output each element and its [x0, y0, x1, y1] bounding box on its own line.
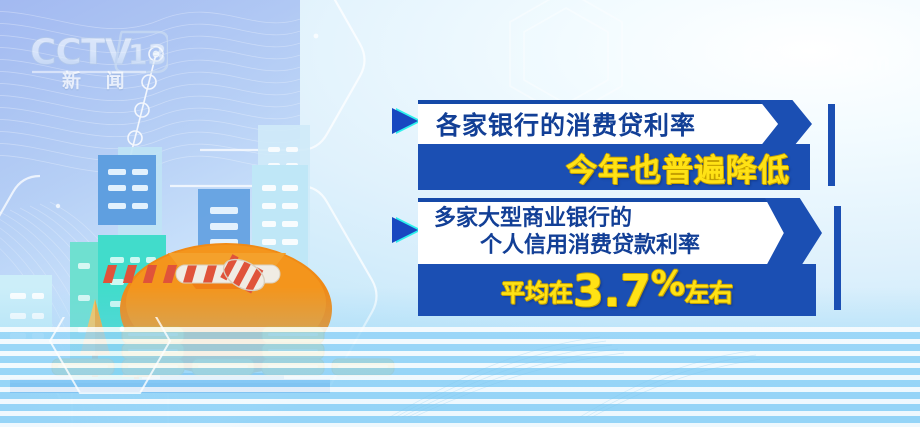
banner-1: 各家银行的消费贷利率 今年也普遍降低: [418, 100, 810, 190]
banner-2-chevron-tip: [765, 198, 822, 268]
cctv-com-watermark: CCTV .com: [744, 36, 914, 76]
banner-2-emphasis-value: 3.7: [573, 272, 651, 312]
banner-2-emphasis-prefix: 平均在: [501, 273, 573, 308]
banner-1-headline-band: 各家银行的消费贷利率: [418, 100, 778, 144]
banner-2-emphasis-suffix: 左右: [685, 273, 733, 308]
bottom-swirl-decoration: [380, 307, 760, 417]
banner-1-emphasis-band: 今年也普遍降低: [418, 144, 810, 190]
broadcast-frame: CCTV 13 新 闻 CCTV .com: [0, 0, 920, 427]
banner-2-emphasis-percent: %: [651, 264, 685, 304]
banner-1-side-accent: [828, 104, 835, 186]
banner-2-emphasis-band: 平均在3.7%左右: [418, 264, 816, 316]
svg-text:CCTV: CCTV: [744, 42, 823, 73]
banner-2-side-accent: [834, 206, 841, 310]
bottom-hexagon-decoration: [20, 317, 200, 427]
banner-1-emphasis: 今年也普遍降低: [566, 145, 790, 190]
banner-2-headline-line1: 多家大型商业银行的: [434, 206, 632, 233]
banner-2-headline-band: 多家大型商业银行的 个人信用消费贷款利率: [418, 198, 784, 264]
banner-1-headline: 各家银行的消费贷利率: [436, 106, 696, 142]
banner-1-chevron-tip: [759, 100, 812, 148]
banner-2-headline-line2: 个人信用消费贷款利率: [480, 233, 700, 260]
svg-text:.com: .com: [836, 50, 890, 75]
banner-2: 多家大型商业银行的 个人信用消费贷款利率 平均在3.7%左右: [418, 198, 816, 316]
